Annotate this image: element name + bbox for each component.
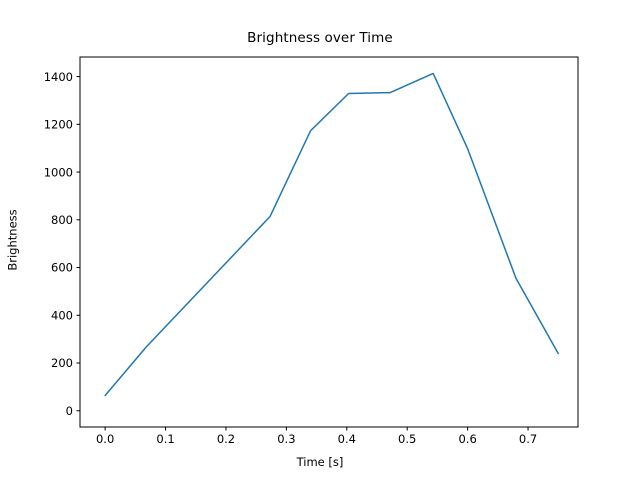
data-line-brightness — [105, 73, 558, 395]
y-tick-label: 400 — [51, 308, 73, 322]
x-tick-label: 0.4 — [338, 432, 356, 446]
plot-area: 0.00.10.20.30.40.50.60.70200400600800100… — [0, 0, 640, 480]
x-tick-label: 0.2 — [217, 432, 235, 446]
y-tick-label: 600 — [51, 261, 73, 275]
y-tick-label: 1200 — [44, 118, 73, 132]
y-tick-label: 1000 — [44, 165, 73, 179]
y-tick-label: 200 — [51, 356, 73, 370]
y-axis-label: Brightness — [0, 0, 26, 480]
y-tick-label: 800 — [51, 213, 73, 227]
figure-canvas: Brightness over Time 0.00.10.20.30.40.50… — [0, 0, 640, 480]
x-tick-label: 0.1 — [156, 432, 174, 446]
y-tick-label: 1400 — [44, 70, 73, 84]
x-tick-label: 0.3 — [277, 432, 295, 446]
x-tick-label: 0.6 — [458, 432, 476, 446]
x-tick-label: 0.5 — [398, 432, 416, 446]
y-tick-label: 0 — [66, 404, 73, 418]
x-tick-label: 0.7 — [519, 432, 537, 446]
x-tick-label: 0.0 — [96, 432, 114, 446]
y-axis-label-text: Brightness — [6, 209, 20, 270]
x-axis-label: Time [s] — [0, 455, 640, 469]
